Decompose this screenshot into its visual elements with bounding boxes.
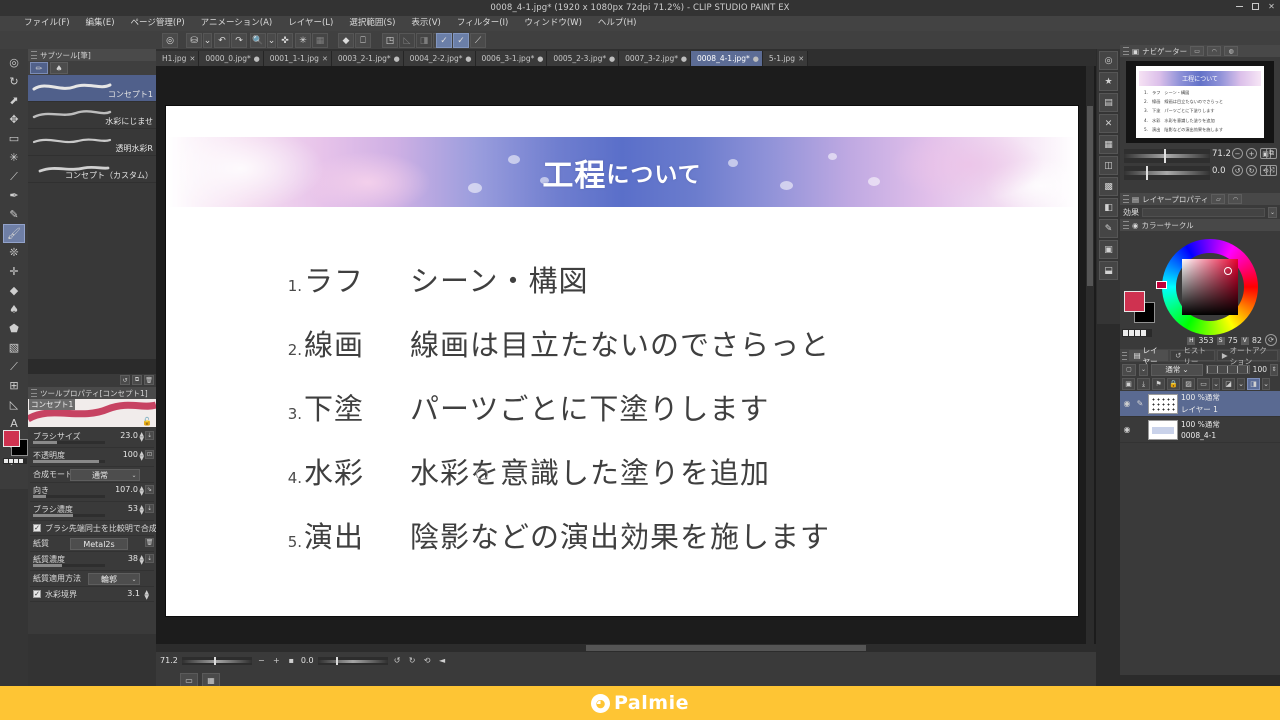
save-dropdown-icon[interactable]: ⌄ [203, 33, 212, 48]
move-tool[interactable]: ✥ [3, 110, 25, 129]
brush-item-concept1[interactable]: コンセプト1 [28, 75, 156, 102]
menu-help[interactable]: ヘルプ(H) [590, 16, 645, 31]
brush-item-concept-custom[interactable]: コンセプト（カスタム） [28, 156, 156, 183]
color-circle-icon: ◉ [1132, 221, 1139, 230]
layer-opacity-value: 100 [1253, 365, 1267, 374]
close-icon[interactable]: ✕ [322, 55, 328, 63]
slide-step-row: 5. 演出 陰影などの演出効果を施します [278, 514, 1038, 556]
palette-cell[interactable] [1135, 330, 1140, 336]
brush-label: コンセプト（カスタム） [65, 170, 153, 181]
palmie-wordmark: Palmie [614, 692, 689, 714]
panel-grip-icon[interactable] [31, 389, 37, 397]
snap-special-icon[interactable]: ✓ [436, 33, 452, 48]
canvas-vertical-scrollbar[interactable] [1086, 66, 1094, 644]
foreground-color-swatch[interactable] [1124, 291, 1145, 312]
snap-none-icon[interactable]: ⟋ [470, 33, 486, 48]
navigator-icon: ▣ [1132, 47, 1139, 56]
chevron-down-icon[interactable]: ⌄ [129, 472, 139, 479]
hue-cursor[interactable] [1156, 281, 1167, 289]
layer-blend-mode-combo[interactable]: 通常 ⌄ [1151, 364, 1203, 376]
lock-transparent-icon[interactable]: ▨ [1182, 378, 1195, 390]
slide-step-list: 1. ラフ シーン・構図 2. 線画 線画は目立たないのでさらっと 3. 下塗 … [278, 258, 1038, 578]
tab-layer[interactable]: ▤ レイヤー [1129, 350, 1169, 361]
quick-palette[interactable] [3, 458, 27, 464]
material-edit-icon[interactable]: ✎ [1099, 219, 1118, 238]
document-tab-label: 0003_2-1.jpg* [338, 54, 391, 63]
step-description: 線画は目立たないのでさらっと [410, 322, 830, 364]
property-label: 水彩境界 [45, 589, 77, 600]
move-layer-tool[interactable]: ⬈ [3, 91, 25, 110]
modified-icon[interactable]: ● [465, 55, 471, 63]
scrollbar-thumb[interactable] [1087, 106, 1093, 286]
palette-cell[interactable] [1129, 330, 1134, 336]
layer-name: 0008_4-1 [1181, 431, 1220, 440]
property-value: 100 [123, 450, 138, 459]
document-tab-label: H1.jpg [162, 54, 186, 63]
register-subtool-icon[interactable]: ⧉ [132, 375, 142, 385]
save-icon[interactable]: ⛁ [186, 33, 202, 48]
menu-file[interactable]: ファイル(F) [16, 16, 78, 31]
foreground-color-swatch[interactable] [3, 430, 20, 447]
mask-icon[interactable]: ▣ [1122, 378, 1135, 390]
navigator-rotation-slider[interactable] [1124, 166, 1210, 180]
palette-cell[interactable] [4, 459, 8, 463]
rotate-left-icon[interactable]: ↺ [1232, 165, 1243, 176]
modified-icon[interactable]: ● [537, 55, 543, 63]
layer-name: レイヤー 1 [1181, 404, 1220, 415]
cat-icon: ◕ [591, 694, 610, 713]
airbrush-tool[interactable]: ❊ [3, 243, 25, 262]
navigator-line-key: ラフ [1152, 90, 1160, 96]
document-tab[interactable]: 0003_2-1.jpg* ● [332, 51, 404, 66]
table-row[interactable]: ◉ ✎ 100 %通常 レイヤー 1 [1120, 391, 1280, 417]
direction-dynamics-icon[interactable]: ⇘ [145, 485, 154, 494]
tool-color-swatch[interactable] [2, 430, 28, 464]
tool-palette: ◎ ↻ ⬈ ✥ ▭ ✳ ⟋ ✒ ✎ 🖌 ❊ ✛ ◆ ♠ ⬟ ▧ ⟋ ⊞ ◺ A … [0, 49, 28, 489]
material-favorite-icon[interactable]: ★ [1099, 72, 1118, 91]
modified-icon[interactable]: ● [681, 55, 687, 63]
document-tab[interactable]: 0007_3-2.jpg* ● [619, 51, 691, 66]
material-icon[interactable]: ▤ [1099, 93, 1118, 112]
ruler-dropdown-icon[interactable]: ⌄ [1212, 378, 1220, 390]
navigator-line-key: 水彩 [1152, 118, 1160, 124]
navigator-rotation-value: 0.0 [1212, 166, 1226, 176]
blend-mode-combo[interactable]: 通常 ⌄ [70, 469, 140, 481]
redo-icon[interactable]: ↷ [231, 33, 247, 48]
canvas-horizontal-scrollbar[interactable] [156, 644, 1096, 652]
property-paper-apply-method[interactable]: 紙質適用方法 輪郭 ⌄ [30, 571, 154, 587]
right-dock: ▣ ナビゲーター ▭ ◠ ◍ 工程について 1. ラフ シーン・構図 2. [1120, 45, 1280, 675]
navigator-line-key: 線画 [1152, 99, 1160, 105]
brush-density-slider[interactable] [33, 514, 105, 517]
menu-window[interactable]: ウィンドウ(W) [516, 16, 590, 31]
spinner-icon[interactable]: ▲▼ [139, 451, 144, 461]
document-tab[interactable]: 0000_0.jpg* ● [199, 51, 263, 66]
pencil-tool[interactable]: ✎ [3, 205, 25, 224]
flip-vertical-icon[interactable]: ⤨ [1266, 165, 1277, 176]
restore-default-icon[interactable]: ↺ [120, 375, 130, 385]
layer-opacity-slider[interactable] [1206, 365, 1250, 374]
menu-filter[interactable]: フィルター(I) [449, 16, 516, 31]
reset-rotation-icon[interactable]: ⟲ [422, 655, 433, 666]
paper-texture-value: Metal2s [71, 540, 127, 549]
slide-step-row: 3. 下塗 パーツごとに下塗りします [278, 386, 1038, 428]
paper-apply-combo[interactable]: 輪郭 ⌄ [88, 573, 140, 585]
clip-icon[interactable]: ⤓ [1137, 378, 1150, 390]
property-watercolor-edge[interactable]: ✓ 水彩境界 3.1 ▲▼ [30, 587, 154, 602]
transform-icon[interactable]: ◳ [382, 33, 398, 48]
navigator-lines: 1. ラフ シーン・構図 2. 線画 線画は目立たないのでさらっと 3. 下塗 … [1144, 90, 1258, 136]
property-paper-texture[interactable]: 紙質 Metal2s 🗑 [30, 536, 154, 552]
layer-property-effect-row[interactable]: 効果 ⌄ [1120, 205, 1280, 219]
scrollbar-thumb[interactable] [586, 645, 866, 651]
document-tab-label: 5-1.jpg [769, 54, 795, 63]
menu-view[interactable]: 表示(V) [403, 16, 448, 31]
palette-color-icon[interactable]: ◨ [1247, 378, 1260, 390]
chevron-down-icon[interactable]: ⌄ [1182, 365, 1188, 374]
close-icon[interactable]: ✕ [798, 55, 804, 63]
color-swatch-pair[interactable] [1124, 291, 1154, 325]
document-tab[interactable]: H1.jpg ✕ [156, 51, 199, 66]
delete-icon[interactable]: 🗑 [144, 375, 154, 385]
bucket-icon[interactable]: ◆ [338, 33, 354, 48]
magnifier-tool[interactable]: ◎ [3, 53, 25, 72]
spinner-icon[interactable]: ▲▼ [139, 555, 144, 565]
slide-title-sub: について [606, 155, 701, 189]
hue-tag: H [1187, 337, 1195, 345]
menu-layer[interactable]: レイヤー(L) [280, 16, 341, 31]
fit-icon[interactable]: ▪ [286, 655, 297, 666]
panel-shortcut-rail: ◎ ★ ▤ ✕ ▦ ◫ ▩ ◧ ✎ ▣ ⬓ [1097, 49, 1120, 324]
brush-item-transparent-watercolor[interactable]: 透明水彩R [28, 129, 156, 156]
document-viewport[interactable]: 工程について 1. ラフ シーン・構図 2. 線画 線画は目立たないのでさらっと [166, 71, 1088, 691]
property-brush-size[interactable]: ブラシサイズ 23.0 ▲▼ ⇣ [30, 429, 154, 448]
new-icon[interactable]: ◎ [162, 33, 178, 48]
mask-dropdown-icon[interactable]: ⌄ [1237, 378, 1245, 390]
value-value: 82 [1252, 336, 1262, 345]
navigator-controls: 71.2 0.0 − + ▣ ↺ ↻ ⟲ ⧉ ⤨ [1120, 147, 1280, 193]
layer-blend-info: 100 %通常 [1181, 419, 1220, 430]
document-tab[interactable]: 0004_2-2.jpg* ● [404, 51, 476, 66]
document-tab-label: 0005_2-3.jpg* [553, 54, 606, 63]
navigator-line-desc: 陰影などの演出効果を施します [1164, 127, 1223, 133]
palette-cell[interactable] [14, 459, 18, 463]
crop-icon[interactable]: ⎕ [355, 33, 371, 48]
document-tab-label: 0001_1-1.jpg [270, 54, 319, 63]
document-tab-active[interactable]: 0008_4-1.jpg* ● [691, 51, 763, 66]
palette-cell[interactable] [9, 459, 13, 463]
fill-icon[interactable]: ✳ [295, 33, 311, 48]
eraser-tool[interactable]: ◆ [3, 281, 25, 300]
saturation-tag: S [1217, 337, 1225, 345]
close-icon[interactable]: ✕ [190, 55, 196, 63]
material-pattern-icon[interactable]: ▩ [1099, 177, 1118, 196]
navigator-zoom-slider[interactable] [1124, 149, 1210, 163]
navigator-line-key: 下塗 [1152, 108, 1160, 114]
ruler-icon[interactable]: ▭ [1197, 378, 1210, 390]
modified-icon[interactable]: ● [254, 55, 260, 63]
zoom-out-icon[interactable]: − [1232, 148, 1243, 159]
sv-cursor[interactable] [1224, 267, 1232, 275]
chevron-down-icon[interactable]: ⌄ [129, 576, 139, 583]
left-strip-filler [0, 489, 28, 686]
document-tab-label: 0006_3-1.jpg* [482, 54, 535, 63]
snap-perspective-icon[interactable]: ✓ [453, 33, 469, 48]
property-tip-blend-lighten[interactable]: ✓ ブラシ先端同士を比較明で合成 [30, 521, 154, 536]
navigator-panel-header: ▣ ナビゲーター ▭ ◠ ◍ [1120, 45, 1280, 57]
tab-autoaction[interactable]: ▶ オートアクション [1217, 350, 1278, 361]
navigator-line-key: 演出 [1152, 127, 1160, 133]
tone-effect-icon[interactable]: ◠ [1228, 194, 1242, 204]
gradient-icon[interactable]: ◨ [416, 33, 432, 48]
layer-controls: ▢ ⌄ 通常 ⌄ 100 ⇕ [1120, 362, 1280, 377]
fit-screen-icon[interactable]: ▭ [1190, 46, 1204, 56]
property-direction[interactable]: 向き 107.0 ▲▼ ⇘ [30, 483, 154, 502]
decoration-tool[interactable]: ✛ [3, 262, 25, 281]
menu-edit[interactable]: 編集(E) [78, 16, 123, 31]
slide-step-row: 4. 水彩 水彩を意識した塗りを追加 [278, 450, 1038, 492]
status-rotation-value: 0.0 [301, 656, 314, 665]
layer-thumbnail [1148, 420, 1178, 440]
ruler-snap-icon[interactable]: ◺ [399, 33, 415, 48]
navigator-line: 4. 水彩 水彩を意識した塗りを追加 [1144, 118, 1258, 124]
zoom-icon[interactable]: 🔍 [250, 33, 266, 48]
table-row[interactable]: ◉ 100 %通常 0008_4-1 [1120, 417, 1280, 443]
palette-dropdown-icon[interactable]: ⌄ [1262, 378, 1270, 390]
border-effect-icon[interactable]: ▱ [1211, 194, 1225, 204]
density-dynamics-icon[interactable]: ⇣ [145, 504, 154, 513]
hue-value: 353 [1198, 336, 1213, 345]
navigator-line-num: 1. [1144, 90, 1148, 96]
palette-cell[interactable] [19, 459, 23, 463]
paper-texture-delete-icon[interactable]: 🗑 [145, 538, 154, 547]
layer-mask-mode-icon[interactable]: ▢ [1122, 364, 1136, 376]
auto-select-tool[interactable]: ✳ [3, 148, 25, 167]
step-number: 2. [278, 341, 302, 359]
modified-icon[interactable]: ● [394, 55, 400, 63]
approximate-color-palette[interactable] [1122, 329, 1152, 337]
maximize-button[interactable] [1251, 2, 1260, 11]
sub-tool-title-text: サブツール[筆] [40, 50, 91, 61]
rotate-right-icon[interactable]: ↻ [407, 655, 418, 666]
modified-icon[interactable]: ● [609, 55, 615, 63]
material-image-icon[interactable]: ▣ [1099, 240, 1118, 259]
menu-page[interactable]: ページ管理(P) [123, 16, 193, 31]
blend-tool[interactable]: ♠ [3, 300, 25, 319]
status-rotation-slider[interactable] [318, 657, 388, 665]
undo-icon[interactable]: ↶ [214, 33, 230, 48]
rotate-right-icon[interactable]: ↻ [1246, 165, 1257, 176]
panel-grip-icon[interactable] [1123, 195, 1129, 203]
document-tab-label: 0000_0.jpg* [205, 54, 250, 63]
brush-size-dynamics-icon[interactable]: ⇣ [145, 431, 154, 440]
layer-visibility-icon[interactable]: ◉ [1122, 425, 1132, 435]
effect-spinner-icon[interactable]: ⌄ [1268, 207, 1277, 218]
step-description: 水彩を意識した塗りを追加 [410, 450, 770, 492]
navigator-zoom-value: 71.2 [1212, 149, 1231, 159]
slide-canvas[interactable]: 工程について 1. ラフ シーン・構図 2. 線画 線画は目立たないのでさらっと [166, 106, 1078, 616]
paper-texture-combo[interactable]: Metal2s [70, 538, 128, 550]
navigator-banner-title: 工程について [1139, 71, 1261, 86]
property-opacity[interactable]: 不透明度 100 ▲▼ ⊡ [30, 448, 154, 467]
property-brush-density[interactable]: ブラシ濃度 53 ▲▼ ⇣ [30, 502, 154, 521]
document-tab[interactable]: 0005_2-3.jpg* ● [547, 51, 619, 66]
spinner-icon[interactable]: ▲▼ [139, 505, 144, 515]
slide-step-row: 1. ラフ シーン・構図 [278, 258, 1038, 300]
step-keyword: 下塗 [302, 386, 410, 428]
select-fill-icon[interactable]: ▦ [312, 33, 328, 48]
flip-horizontal-icon[interactable]: ⧉ [1266, 148, 1277, 159]
status-bar: 71.2 − + ▪ 0.0 ↺ ↻ ⟲ ◄ [156, 652, 1096, 669]
layer-blend-info: 100 %通常 [1181, 392, 1220, 403]
zoom-dropdown-icon[interactable]: ⌄ [267, 33, 276, 48]
brush-stroke-preview-icon [32, 133, 112, 149]
navigator-line-num: 4. [1144, 118, 1148, 124]
menu-selection[interactable]: 選択範囲(S) [341, 16, 403, 31]
color-circle-header: ◉ カラーサークル [1120, 219, 1280, 231]
status-zoom-slider[interactable] [182, 657, 252, 665]
material-tone-icon[interactable]: ▦ [1099, 135, 1118, 154]
brush-item-watercolor-blend[interactable]: 水彩にじませ [28, 102, 156, 129]
zoom-out-icon[interactable]: − [256, 655, 267, 666]
rotate-tool[interactable]: ↻ [3, 72, 25, 91]
frame-border-tool[interactable]: ⊞ [3, 376, 25, 395]
spinner-icon[interactable]: ▲▼ [139, 486, 144, 496]
navigator-line-num: 5. [1144, 127, 1148, 133]
panel-grip-icon[interactable] [1123, 221, 1129, 229]
tab-layer-icon: ▤ [1134, 351, 1141, 360]
checkbox-checked-icon[interactable]: ✓ [33, 524, 41, 532]
panel-grip-icon[interactable] [31, 51, 37, 59]
step-keyword: 水彩 [302, 450, 410, 492]
ruler-tool[interactable]: ◺ [3, 395, 25, 414]
menu-animation[interactable]: アニメーション(A) [193, 16, 281, 31]
palette-cell[interactable] [1123, 330, 1128, 336]
brush-stroke-preview-icon [32, 106, 112, 122]
opacity-dynamics-icon[interactable]: ⊡ [145, 450, 154, 459]
color-circle-title: カラーサークル [1142, 220, 1194, 231]
paper-density-dynamics-icon[interactable]: ⇣ [145, 554, 154, 563]
tab-autoaction-icon: ▶ [1222, 351, 1228, 360]
close-button[interactable]: ✕ [1267, 2, 1276, 11]
slide-title-main: 工程 [542, 150, 606, 195]
navigator-thumbnail[interactable]: 工程について 1. ラフ シーン・構図 2. 線画 線画は目立たないのでさらっと… [1126, 61, 1274, 143]
status-zoom-value: 71.2 [160, 656, 178, 665]
layer-visibility-icon[interactable]: ◉ [1122, 399, 1132, 409]
slide-title: 工程について [168, 137, 1076, 207]
slide-title-banner: 工程について [168, 137, 1076, 207]
actual-pixels-icon[interactable]: ◍ [1224, 46, 1238, 56]
navigator-line: 5. 演出 陰影などの演出効果を施します [1144, 127, 1258, 133]
window-title: 0008_4-1.jpg* (1920 x 1080px 72dpi 71.2%… [490, 3, 789, 13]
brush-label: 水彩にじませ [105, 116, 153, 127]
checkbox-checked-icon[interactable]: ✓ [33, 590, 41, 598]
clear-icon[interactable]: ✜ [277, 33, 293, 48]
layer-thumbnail [1148, 394, 1178, 414]
rotate-left-icon[interactable]: ↺ [392, 655, 403, 666]
paper-density-slider[interactable] [33, 564, 105, 567]
lock-icon[interactable]: 🔓 [142, 417, 152, 426]
minimize-button[interactable] [1235, 2, 1244, 11]
property-paper-density[interactable]: 紙質濃度 38 ▲▼ ⇣ [30, 552, 154, 571]
reference-icon[interactable]: ⚑ [1152, 378, 1165, 390]
brush-tool[interactable]: 🖌 [3, 224, 25, 243]
color-circle-panel[interactable]: H 353 S 75 V 82 ⟳ [1120, 231, 1280, 349]
palette-cell[interactable] [1141, 330, 1146, 336]
spinner-icon[interactable]: ▲▼ [139, 432, 144, 442]
gradient-tool[interactable]: ▧ [3, 338, 25, 357]
panel-grip-icon[interactable] [1122, 352, 1127, 360]
selection-tool[interactable]: ▭ [3, 129, 25, 148]
layer-edit-icon: ✎ [1135, 399, 1145, 408]
command-bar: ◎ ⛁ ⌄ ↶ ↷ 🔍 ⌄ ✜ ✳ ▦ ◆ ⎕ ◳ ◺ ◨ ▢ ✓ [0, 31, 1280, 49]
document-tab[interactable]: 5-1.jpg ✕ [763, 51, 808, 66]
chevron-down-icon[interactable]: ⌄ [1139, 364, 1148, 376]
brush-list: コンセプト1 水彩にじませ 透明水彩R コンセプト（カスタム） [28, 75, 156, 183]
property-label: 紙質適用方法 [33, 573, 81, 584]
mirror-icon[interactable]: ◄ [437, 655, 448, 666]
eyedropper-tool[interactable]: ⟋ [3, 167, 25, 186]
lock-icon[interactable]: 🔒 [1167, 378, 1180, 390]
quick-access-icon[interactable]: ◎ [1099, 51, 1118, 70]
document-tab[interactable]: 0001_1-1.jpg ✕ [264, 51, 332, 66]
layer-blend-mode-value: 通常 [1165, 364, 1180, 375]
sub-tool-tab-ink[interactable]: ♠ [50, 62, 68, 74]
document-tab[interactable]: 0006_3-1.jpg* ● [476, 51, 548, 66]
material-3d-icon[interactable]: ◫ [1099, 156, 1118, 175]
effect-track[interactable] [1142, 208, 1265, 217]
tab-history[interactable]: ↺ ヒストリー [1170, 350, 1215, 361]
brush-label: 透明水彩R [115, 143, 153, 154]
panel-grip-icon[interactable] [1123, 47, 1129, 55]
saturation-value: 75 [1228, 336, 1238, 345]
direction-slider[interactable] [33, 495, 105, 498]
line-tool[interactable]: ⟋ [3, 357, 25, 376]
property-value: 23.0 [120, 431, 138, 440]
tool-property-title-text: ツールプロパティ[コンセプト1] [40, 388, 148, 399]
modified-icon[interactable]: ● [753, 55, 759, 63]
navigator-line-num: 3. [1144, 108, 1148, 114]
material-delete-icon[interactable]: ✕ [1099, 114, 1118, 133]
mask-enable-icon[interactable]: ◪ [1222, 378, 1235, 390]
tool-property-header-buttons: ↺ ⧉ 🗑 [28, 374, 156, 387]
brush-label: コンセプト1 [108, 89, 153, 100]
brush-cursor [476, 468, 488, 480]
step-number: 1. [278, 277, 302, 295]
tool-property-preview-label: コンセプト1 [29, 399, 75, 410]
pen-tool[interactable]: ✒ [3, 186, 25, 205]
zoom-in-icon[interactable]: + [271, 655, 282, 666]
step-number: 4. [278, 469, 302, 487]
property-blend-mode[interactable]: 合成モード 通常 ⌄ [30, 467, 154, 483]
opacity-slider[interactable] [33, 460, 105, 463]
spinner-icon[interactable]: ▲▼ [144, 590, 149, 600]
color-mode-switch-icon[interactable]: ⟳ [1265, 334, 1277, 346]
zoom-in-icon[interactable]: + [1246, 148, 1257, 159]
fit-window-icon[interactable]: ◠ [1207, 46, 1221, 56]
property-label: ブラシ先端同士を比較明で合成 [45, 523, 157, 534]
layer-property-title: レイヤープロパティ [1142, 194, 1208, 205]
fill-tool[interactable]: ⬟ [3, 319, 25, 338]
tool-property-preview: コンセプト1 🔓 [28, 399, 156, 427]
material-download-icon[interactable]: ⬓ [1099, 261, 1118, 280]
navigator-line-desc: 水彩を意識した塗りを追加 [1164, 118, 1214, 124]
material-color-icon[interactable]: ◧ [1099, 198, 1118, 217]
brush-size-slider[interactable] [33, 441, 105, 444]
sub-tool-tab-watercolor[interactable]: ✏ [30, 62, 48, 74]
spinner-icon[interactable]: ⇕ [1270, 364, 1278, 376]
step-keyword: 演出 [302, 514, 410, 556]
